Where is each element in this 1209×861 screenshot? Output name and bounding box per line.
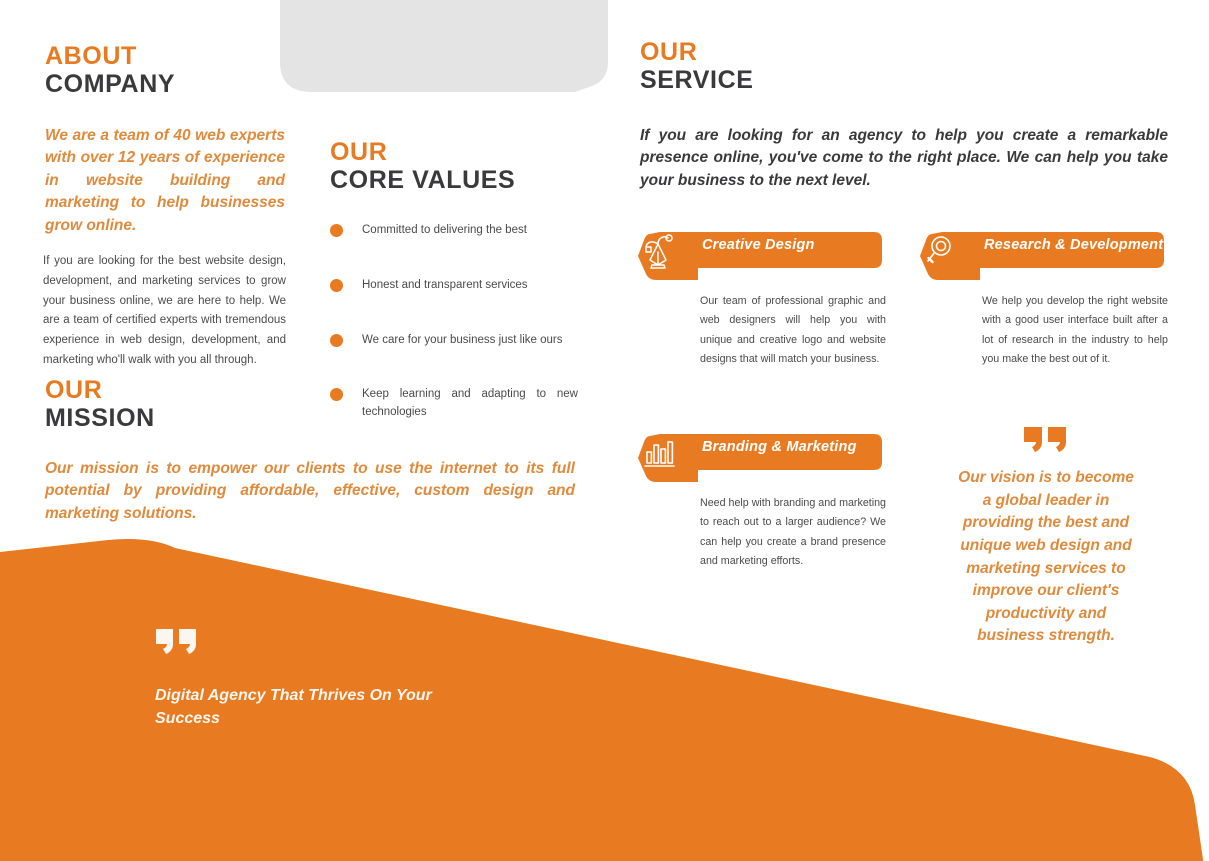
about-heading-bottom: COMPANY bbox=[45, 72, 175, 97]
list-item: Committed to delivering the best bbox=[330, 222, 580, 240]
mission-heading-bottom: MISSION bbox=[45, 406, 155, 431]
our-service-heading: OUR SERVICE bbox=[640, 40, 754, 93]
about-lead-text: We are a team of 40 web experts with ove… bbox=[45, 125, 285, 237]
service-card-research-development[interactable]: Research & Development We help you devel… bbox=[920, 230, 1168, 370]
list-item: We care for your business just like ours bbox=[330, 332, 580, 350]
card-title: Research & Development bbox=[984, 237, 1163, 253]
core-values-heading-top: OUR bbox=[330, 140, 515, 165]
card-header: Creative Design bbox=[638, 230, 886, 286]
bullet-icon bbox=[330, 388, 343, 401]
bullet-icon bbox=[330, 334, 343, 347]
mission-heading-top: OUR bbox=[45, 378, 155, 403]
vision-statement: Our vision is to become a global leader … bbox=[955, 425, 1137, 648]
bar-chart-icon bbox=[638, 432, 678, 472]
about-company-heading: ABOUT COMPANY bbox=[45, 44, 175, 97]
core-value-label: Committed to delivering the best bbox=[362, 222, 578, 240]
card-body-text: Our team of professional graphic and web… bbox=[700, 286, 886, 370]
list-item: Keep learning and adapting to new techno… bbox=[330, 386, 580, 422]
about-body-text: If you are looking for the best website … bbox=[43, 252, 286, 371]
mission-lead-text: Our mission is to empower our clients to… bbox=[45, 458, 575, 525]
quote-icon bbox=[155, 628, 199, 657]
card-body-text: Need help with branding and marketing to… bbox=[700, 488, 886, 572]
service-heading-bottom: SERVICE bbox=[640, 68, 754, 93]
service-lead-text: If you are looking for an agency to help… bbox=[640, 125, 1168, 192]
card-header: Branding & Marketing bbox=[638, 432, 886, 488]
about-heading-top: ABOUT bbox=[45, 44, 175, 69]
magnifier-icon bbox=[920, 230, 960, 270]
service-card-branding-marketing[interactable]: Branding & Marketing Need help with bran… bbox=[638, 432, 886, 572]
core-values-list: Committed to delivering the best Honest … bbox=[330, 222, 580, 422]
quote-icon bbox=[1022, 425, 1070, 455]
core-value-label: Keep learning and adapting to new techno… bbox=[362, 386, 578, 422]
pen-nib-icon bbox=[638, 230, 678, 270]
card-body-text: We help you develop the right website wi… bbox=[982, 286, 1168, 370]
card-title: Branding & Marketing bbox=[702, 439, 857, 455]
bullet-icon bbox=[330, 279, 343, 292]
card-title: Creative Design bbox=[702, 237, 815, 253]
core-value-label: Honest and transparent services bbox=[362, 277, 578, 295]
core-values-heading-bottom: CORE VALUES bbox=[330, 168, 515, 193]
service-card-creative-design[interactable]: Creative Design Our team of professional… bbox=[638, 230, 886, 370]
bullet-icon bbox=[330, 224, 343, 237]
vision-text: Our vision is to become a global leader … bbox=[955, 467, 1137, 648]
our-mission-heading: OUR MISSION bbox=[45, 378, 155, 431]
tagline-text: Digital Agency That Thrives On Your Succ… bbox=[155, 684, 485, 730]
core-value-label: We care for your business just like ours bbox=[362, 332, 578, 350]
core-values-heading: OUR CORE VALUES bbox=[330, 140, 515, 193]
banner-tagline: Digital Agency That Thrives On Your Succ… bbox=[155, 628, 485, 730]
service-heading-top: OUR bbox=[640, 40, 754, 65]
card-header: Research & Development bbox=[920, 230, 1168, 286]
list-item: Honest and transparent services bbox=[330, 277, 580, 295]
